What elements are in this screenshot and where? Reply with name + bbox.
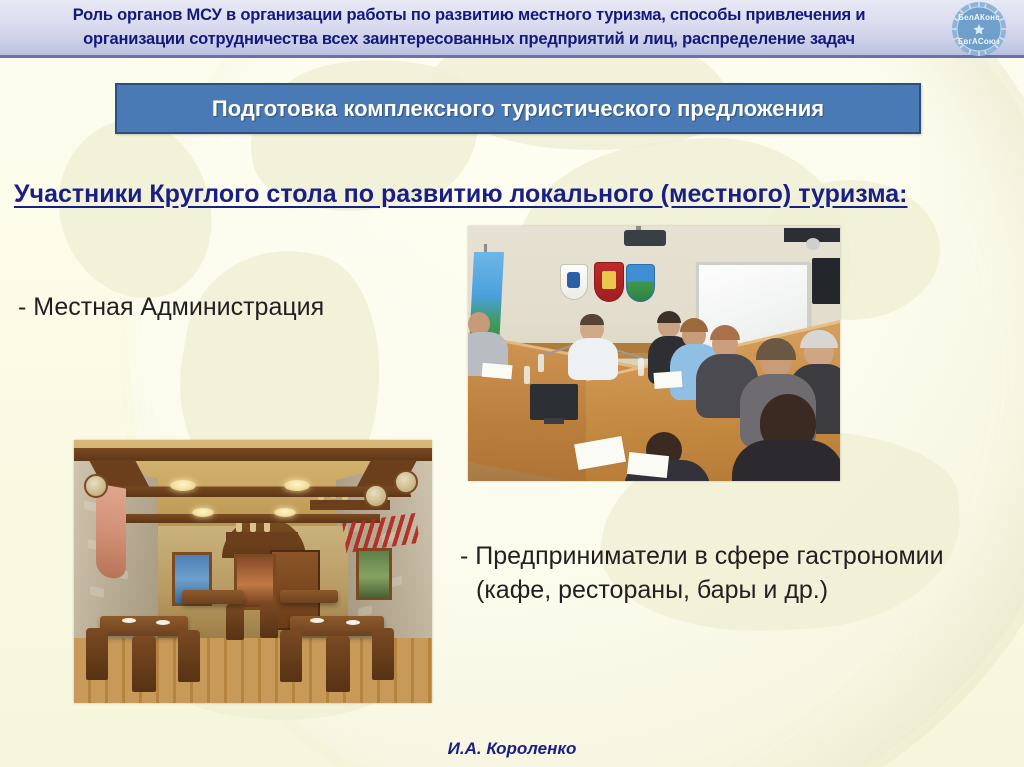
dining-chair xyxy=(86,628,108,680)
slide-header-band: Роль органов МСУ в организации работы по… xyxy=(0,0,1024,58)
municipal-coat-of-arms xyxy=(626,264,655,302)
decorative-plate xyxy=(394,470,418,494)
presentation-slide: Роль органов МСУ в организации работы по… xyxy=(0,0,1024,767)
dining-chair xyxy=(178,630,200,682)
wall-picture xyxy=(356,548,392,600)
dining-table xyxy=(182,590,244,604)
document-sheet xyxy=(627,452,669,478)
wall-monitor xyxy=(812,258,840,304)
window-curtain xyxy=(96,483,126,580)
bullet-item-entrepreneurs: - Предприниматели в сфере гастрономии (к… xyxy=(460,539,990,607)
starburst-badge-icon xyxy=(942,1,1016,57)
dining-table xyxy=(100,616,188,636)
dining-chair xyxy=(372,628,394,680)
dining-chair xyxy=(132,636,156,692)
table-setting xyxy=(122,618,136,623)
header-title-line1: Роль органов МСУ в организации работы по… xyxy=(73,6,866,24)
participant-body xyxy=(568,338,618,380)
header-title-line2: организации сотрудничества всех заинтере… xyxy=(4,27,934,51)
dining-table xyxy=(290,616,384,636)
bullet-item-administration: - Местная Администрация xyxy=(18,293,324,322)
dining-chair xyxy=(226,604,244,640)
desk-monitor xyxy=(530,384,578,420)
bullet-entrepreneurs-line2: (кафе, рестораны, бары и др.) xyxy=(460,573,990,607)
decorative-plate xyxy=(364,484,388,508)
participant-body xyxy=(732,440,840,481)
section-heading: Участники Круглого стола по развитию лок… xyxy=(14,180,907,209)
decor-jar xyxy=(264,522,270,532)
slide-footer-author: И.А. Короленко xyxy=(0,739,1024,759)
slide-title-text: Подготовка комплексного туристического п… xyxy=(212,96,824,122)
ceiling-lamp xyxy=(274,508,296,517)
ceiling-lamp xyxy=(284,480,310,491)
dining-chair xyxy=(326,636,350,692)
camera-icon xyxy=(806,238,820,250)
decorative-plate xyxy=(84,474,108,498)
meeting-photo xyxy=(468,226,840,481)
slide-title-banner: Подготовка комплексного туристического п… xyxy=(115,83,921,134)
dining-chair xyxy=(260,602,278,638)
decor-jar xyxy=(236,522,242,532)
dining-table xyxy=(280,590,338,603)
bullet-entrepreneurs-line1: - Предприниматели в сфере гастрономии xyxy=(460,542,944,570)
table-setting xyxy=(156,620,170,625)
stone-block xyxy=(90,586,104,598)
logo-text-top: БелАКонс xyxy=(942,13,1016,22)
organization-logo: БелАКонс ЕвгАСоюз xyxy=(942,1,1016,57)
document-sheet xyxy=(653,371,682,389)
ceiling-lamp xyxy=(192,508,214,517)
table-setting xyxy=(310,618,324,623)
regional-coat-of-arms xyxy=(560,264,588,300)
water-bottle xyxy=(638,358,644,376)
dining-chair xyxy=(280,630,302,682)
desk-monitor-stand xyxy=(544,418,564,424)
water-bottle xyxy=(524,366,530,384)
document-sheet xyxy=(481,363,512,380)
ceiling-projector xyxy=(624,230,666,246)
water-bottle xyxy=(538,354,544,372)
decor-shelf xyxy=(226,532,298,541)
header-title: Роль органов МСУ в организации работы по… xyxy=(4,3,934,51)
logo-text-bottom: ЕвгАСоюз xyxy=(942,37,1016,46)
table-setting xyxy=(346,620,360,625)
russian-coat-of-arms xyxy=(594,262,624,302)
ceiling-lamp xyxy=(170,480,196,491)
decor-jar xyxy=(250,522,256,532)
ceiling-beam xyxy=(126,514,380,523)
restaurant-photo xyxy=(74,440,432,703)
